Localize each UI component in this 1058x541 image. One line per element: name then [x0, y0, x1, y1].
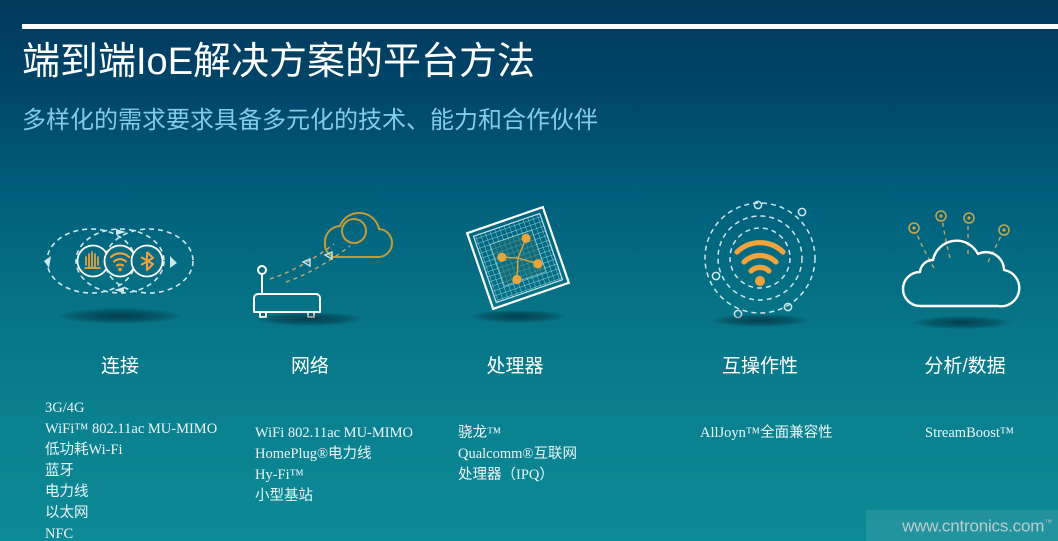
list-item: 3G/4G — [45, 398, 217, 419]
icon-shadow — [912, 316, 1012, 329]
icon-shadow — [58, 308, 182, 324]
connectivity-orbit-svg — [20, 196, 220, 326]
list-item: 低功耗Wi-Fi — [45, 440, 217, 461]
processor-chip-svg — [440, 196, 600, 326]
list-item: WiFi™ 802.11ac MU-MIMO — [45, 419, 217, 440]
list-item: Hy-Fi™ — [255, 465, 413, 486]
cloud-analytics-icon — [890, 196, 1040, 326]
column-heading-processor: 处理器 — [435, 354, 595, 380]
icon-shadow — [710, 314, 810, 327]
watermark-url: www.cntronics.com — [902, 517, 1044, 536]
cloud-analytics-svg — [890, 196, 1040, 326]
wifi-orbit-icon — [680, 196, 840, 326]
column-items-network: WiFi 802.11ac MU-MIMO HomePlug®电力线 Hy-Fi… — [255, 423, 413, 507]
column-heading-connectivity: 连接 — [20, 354, 220, 380]
watermark-text: www.cntronics.com™ — [902, 512, 1052, 537]
list-item: 处理器（IPQ） — [458, 465, 577, 486]
list-item: 以太网 — [45, 503, 217, 524]
watermark-suffix: ™ — [1044, 518, 1052, 527]
page-subtitle: 多样化的需求要求具备多元化的技术、能力和合作伙伴 — [22, 104, 598, 138]
icon-shadow — [470, 310, 566, 323]
column-analytics — [890, 196, 1040, 326]
list-item: 骁龙™ — [458, 423, 577, 444]
header-divider-rule — [22, 24, 1058, 29]
column-heading-network: 网络 — [220, 354, 400, 380]
icon-shadow — [254, 312, 364, 326]
connectivity-orbit-icon — [20, 196, 220, 326]
router-cloud-svg — [230, 196, 410, 326]
list-item: StreamBoost™ — [925, 423, 1014, 444]
column-connectivity — [20, 196, 220, 326]
list-item: Qualcomm®互联网 — [458, 444, 577, 465]
wifi-glyph — [737, 243, 783, 271]
column-items-connectivity: 3G/4G WiFi™ 802.11ac MU-MIMO 低功耗Wi-Fi 蓝牙… — [45, 398, 217, 541]
column-items-interoperability: AllJoyn™全面兼容性 — [700, 423, 833, 444]
column-heading-analytics: 分析/数据 — [890, 354, 1040, 380]
list-item: HomePlug®电力线 — [255, 444, 413, 465]
list-item: 电力线 — [45, 482, 217, 503]
page-title: 端到端IoE解决方案的平台方法 — [22, 36, 535, 88]
column-heading-interoperability: 互操作性 — [680, 354, 840, 380]
list-item: AllJoyn™全面兼容性 — [700, 423, 833, 444]
column-items-processor: 骁龙™ Qualcomm®互联网 处理器（IPQ） — [458, 423, 577, 486]
column-processor — [440, 196, 600, 326]
list-item: WiFi 802.11ac MU-MIMO — [255, 423, 413, 444]
column-network — [230, 196, 410, 326]
processor-chip-icon — [440, 196, 600, 326]
list-item: 蓝牙 — [45, 461, 217, 482]
signal-bars-glyph — [85, 252, 100, 268]
column-items-analytics: StreamBoost™ — [925, 423, 1014, 444]
column-interoperability — [680, 196, 840, 326]
slide-root: 端到端IoE解决方案的平台方法 多样化的需求要求具备多元化的技术、能力和合作伙伴 — [0, 0, 1058, 541]
wifi-orbit-svg — [680, 196, 840, 326]
list-item: 小型基站 — [255, 486, 413, 507]
list-item: NFC — [45, 524, 217, 541]
router-cloud-icon — [230, 196, 410, 326]
